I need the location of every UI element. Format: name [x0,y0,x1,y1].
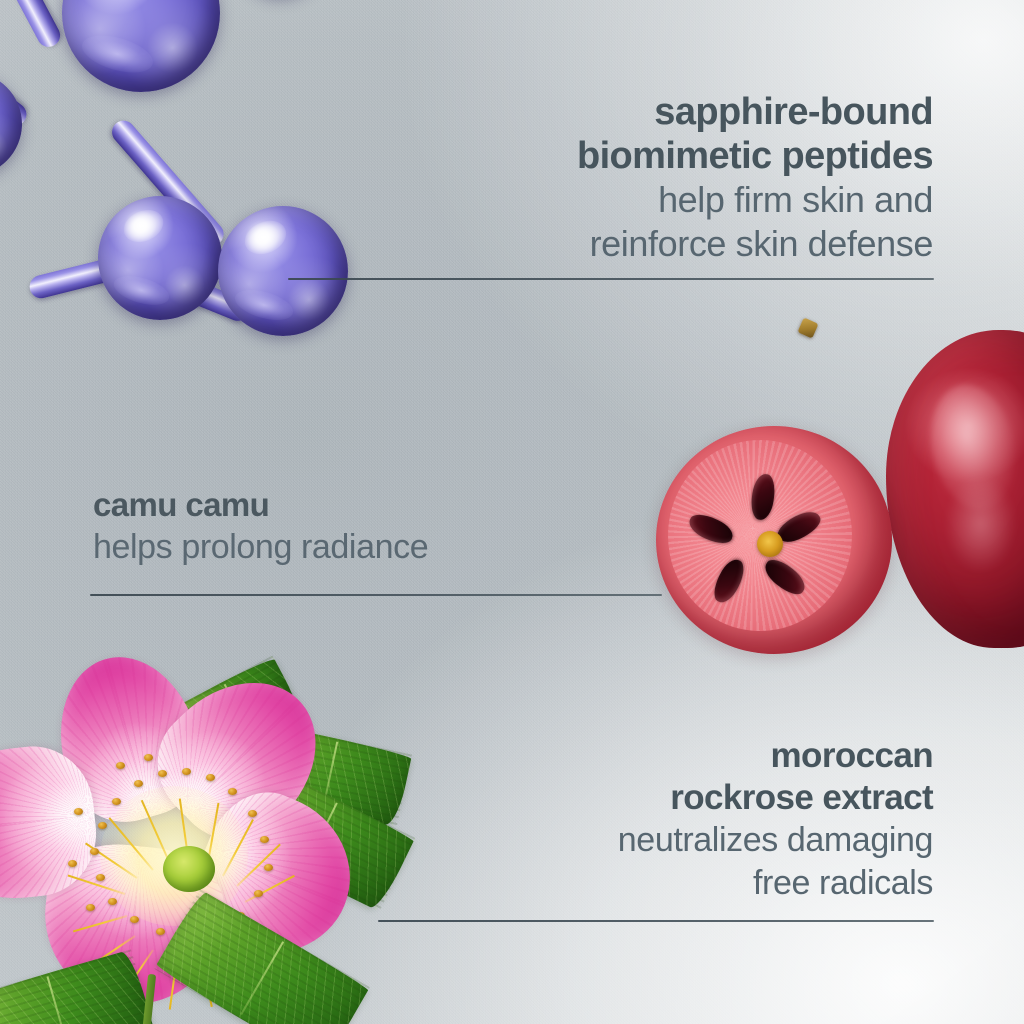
rose-anther [182,768,191,775]
callout-peptides-body-line2: reinforce skin defense [413,222,933,266]
rose-anther [264,864,273,871]
rose-anther [90,848,99,855]
rose-anther [116,762,125,769]
molecule-atom [62,0,220,92]
callout-peptides-heading-line1: sapphire-bound [413,90,933,134]
callout-rockrose: moroccan rockrose extract neutralizes da… [413,735,933,905]
callout-rockrose-body-line2: free radicals [413,862,933,905]
callout-peptides-rule [288,278,934,280]
rose-anther [254,890,263,897]
rose-anther [112,798,121,805]
molecule-atom [98,196,222,320]
callout-camu-camu: camu camu helps prolong radiance [93,485,633,569]
rose-anther [144,754,153,761]
rose-anther [108,898,117,905]
camu-camu-halved-fruit [656,426,892,654]
rose-anther [74,808,83,815]
rose-anther [98,822,107,829]
callout-rockrose-heading-line1: moroccan [413,735,933,777]
camu-camu-whole-fruit [886,330,1024,648]
moroccan-rockrose-flower-image [0,650,428,1024]
rose-anther [158,770,167,777]
camu-camu-fruit-image [648,318,1024,670]
callout-camu-camu-rule [90,594,662,596]
callout-rockrose-body-line1: neutralizes damaging [413,819,933,862]
infographic-canvas: sapphire-bound biomimetic peptides help … [0,0,1024,1024]
rose-anther [130,916,139,923]
rose-anther [260,836,269,843]
rose-anther [228,788,237,795]
rose-anther [248,810,257,817]
callout-camu-camu-body-line1: helps prolong radiance [93,525,633,569]
molecule-atom [218,206,348,336]
molecule-bond [8,0,64,51]
callout-peptides-heading-line2: biomimetic peptides [413,134,933,178]
rose-anther [156,928,165,935]
rose-anther [206,774,215,781]
rose-anther [86,904,95,911]
rose-pistil [163,846,215,892]
callout-peptides: sapphire-bound biomimetic peptides help … [413,90,933,266]
fruit-stem [797,317,818,338]
rose-anther [134,780,143,787]
fruit-highlight-secondary [946,476,1015,571]
callout-rockrose-heading-line2: rockrose extract [413,777,933,819]
rose-anther [96,874,105,881]
callout-camu-camu-heading-line1: camu camu [93,485,633,525]
rose-anther [68,860,77,867]
callout-peptides-body-line1: help firm skin and [413,178,933,222]
sapphire-peptide-molecule-image [0,0,344,344]
callout-rockrose-rule [378,920,934,922]
molecule-atom [0,72,22,176]
